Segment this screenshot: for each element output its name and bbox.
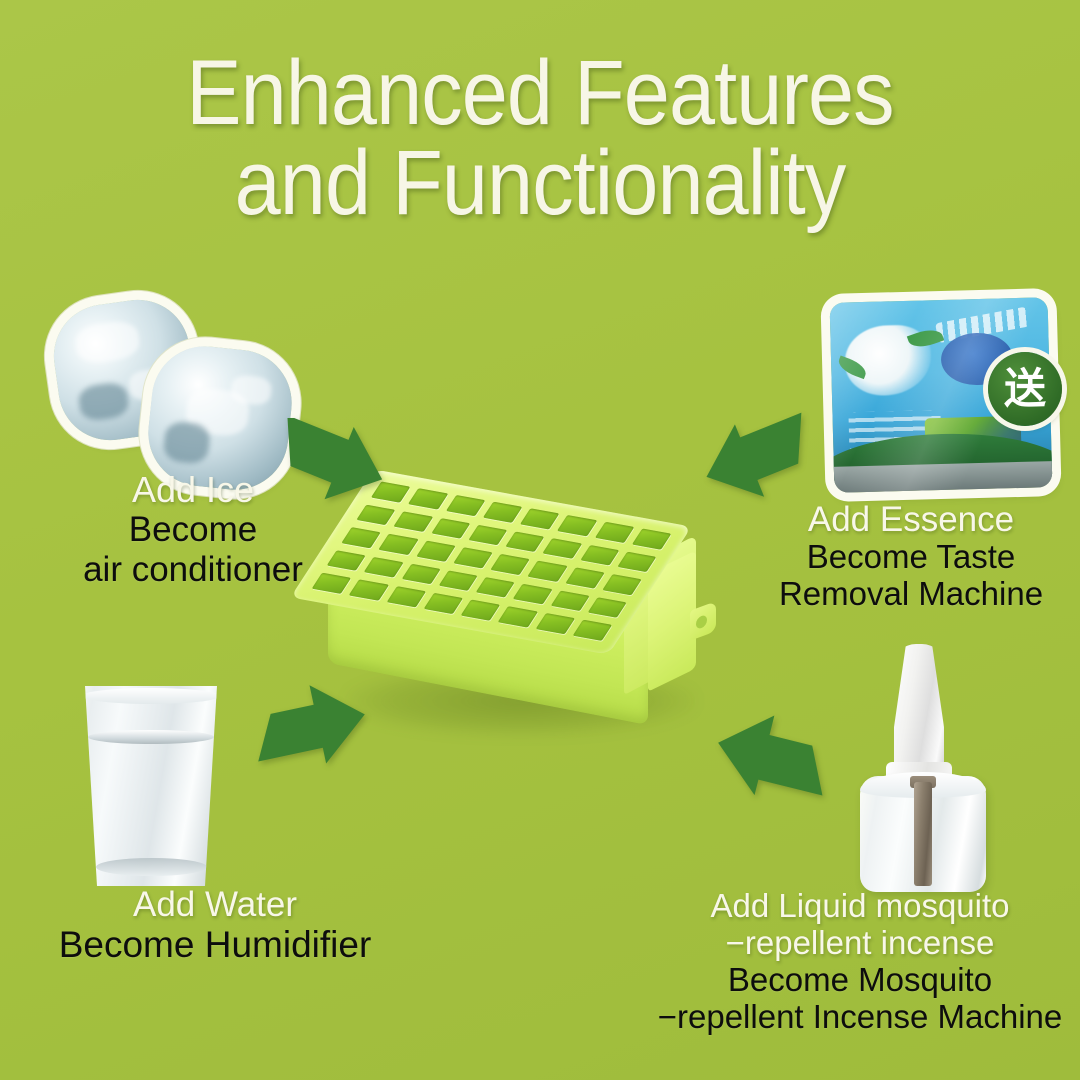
device-vent-slot	[587, 597, 626, 618]
caption-line-water-result: Become Humidifier	[10, 924, 420, 965]
device-vent-slot	[394, 511, 433, 532]
caption-line-essence-result: Removal Machine	[742, 576, 1080, 613]
device-vent-slot	[438, 570, 477, 591]
device-vent-slot	[632, 528, 671, 549]
device-vent-slot	[543, 538, 582, 559]
feature-caption-mosquito: Add Liquid mosquito −repellent incense B…	[640, 888, 1080, 1036]
device-vent-slot	[513, 584, 552, 605]
device-vent-slot	[312, 573, 351, 594]
feature-caption-water: Add Water Become Humidifier	[10, 885, 420, 966]
device-vent-slot	[557, 515, 596, 536]
device-vent-slot	[446, 495, 485, 516]
device-vent-slot	[364, 557, 403, 578]
device-vent-slot	[572, 620, 611, 641]
device-vent-slot	[528, 561, 567, 582]
device-vent-slot	[431, 518, 470, 539]
device-vent-slot	[580, 545, 619, 566]
device-vent-slot	[476, 577, 515, 598]
caption-line-repellent-incense: −repellent incense	[640, 925, 1080, 962]
device-vent-slot	[341, 527, 380, 548]
device-vent-slot	[416, 541, 455, 562]
caption-line-add-liquid: Add Liquid mosquito	[640, 888, 1080, 925]
device-vent-slot	[498, 607, 537, 628]
device-vent-slot	[468, 524, 507, 545]
device-vent-slot	[386, 586, 425, 607]
caption-line-add-water: Add Water	[10, 885, 420, 924]
device-vent-slot	[595, 522, 634, 543]
device-vent-slot	[327, 550, 366, 571]
page-title: Enhanced Features and Functionality	[54, 48, 1026, 228]
device-vent-slot	[453, 547, 492, 568]
infographic-canvas: Enhanced Features and Functionality Add …	[0, 0, 1080, 1080]
ice-cubes-icon	[46, 296, 286, 476]
caption-line-essence-become: Become Taste	[742, 539, 1080, 576]
mosquito-liquid-bottle-icon	[858, 644, 988, 894]
arrow-water-to-device-icon	[248, 676, 372, 772]
device-vent-slot	[349, 580, 388, 601]
device-vent-slot	[490, 554, 529, 575]
caption-line-mosq-result: −repellent Incense Machine	[640, 999, 1080, 1036]
device-vent-slot	[461, 600, 500, 621]
arrow-essence-to-device-icon	[698, 412, 820, 508]
device-vent-slot	[617, 551, 656, 572]
device-vent-slot	[379, 534, 418, 555]
device-vent-slot	[520, 508, 559, 529]
device-vent-slot	[408, 488, 447, 509]
caption-line-ice-become: Become	[18, 510, 368, 549]
device-vent-slot	[602, 574, 641, 595]
free-gift-badge: 送	[988, 352, 1062, 426]
caption-line-mosq-become: Become Mosquito	[640, 962, 1080, 999]
device-vent-slot	[423, 593, 462, 614]
device-vent-slot	[505, 531, 544, 552]
device-vent-slot	[401, 564, 440, 585]
product-device	[318, 466, 738, 766]
arrow-ice-to-device-icon	[268, 418, 388, 510]
feature-caption-essence: Add Essence Become Taste Removal Machine	[742, 500, 1080, 613]
device-vent-slot	[550, 590, 589, 611]
device-vent-slot	[565, 567, 604, 588]
device-vent-slot	[483, 502, 522, 523]
water-glass-icon	[76, 686, 226, 886]
device-vent-slot	[535, 613, 574, 634]
arrow-mosquito-to-device-icon	[708, 706, 834, 808]
